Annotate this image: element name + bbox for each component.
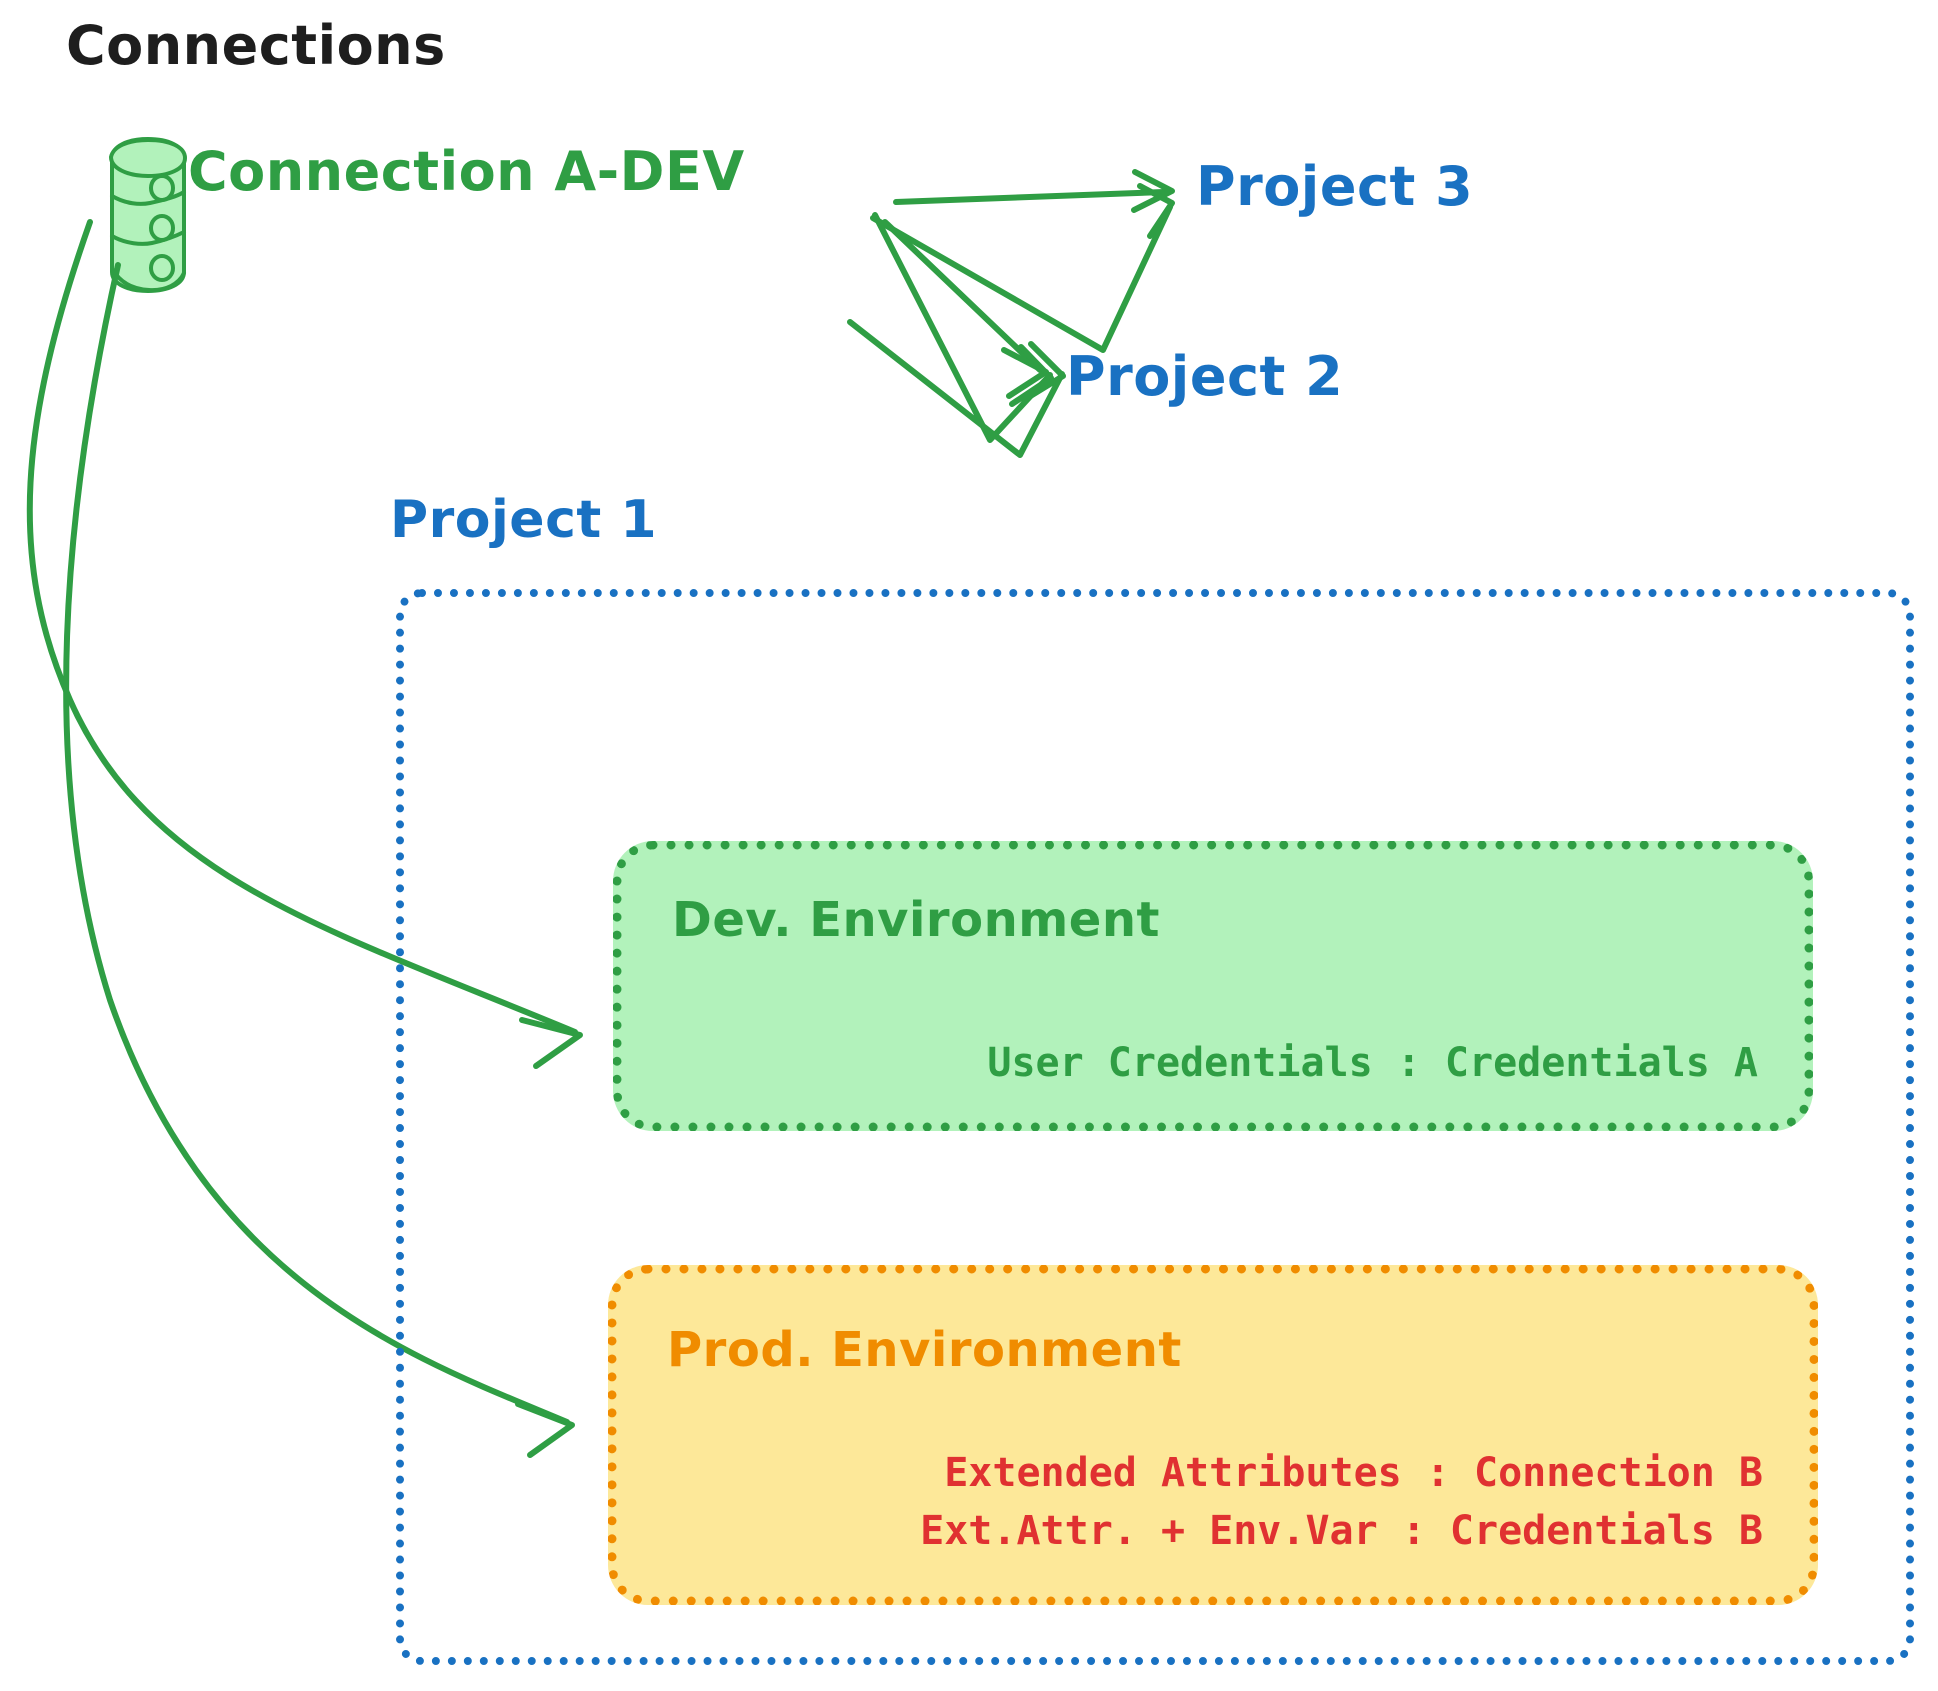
connection-a-dev-label: Connection A-DEV [188, 140, 745, 204]
project-3-label: Project 3 [1196, 155, 1473, 219]
project-1-container: Dev. Environment User Credentials : Cred… [396, 589, 1914, 1665]
dev-environment-box: Dev. Environment User Credentials : Cred… [613, 841, 1813, 1131]
prod-environment-attributes: Extended Attributes : Connection B Ext.A… [920, 1444, 1763, 1560]
project-1-label: Project 1 [390, 490, 657, 551]
prod-attribute-row: Extended Attributes : Connection B [920, 1444, 1763, 1502]
dev-attribute-row: User Credentials : Credentials A [987, 1034, 1758, 1092]
connector-conn-a-dev-to-project-2 [850, 215, 1063, 455]
dev-environment-title: Dev. Environment [672, 892, 1160, 948]
prod-attribute-row: Ext.Attr. + Env.Var : Credentials B [920, 1502, 1763, 1560]
project-2-label: Project 2 [1066, 345, 1343, 409]
prod-environment-box: Prod. Environment Extended Attributes : … [608, 1265, 1818, 1605]
prod-environment-title: Prod. Environment [667, 1322, 1182, 1378]
connector-conn-a-dev-to-project-3 [873, 172, 1172, 350]
diagram-canvas: Connections Connection A-DEV Project 3 P… [0, 0, 1938, 1691]
page-title: Connections [66, 14, 446, 78]
dev-environment-attributes: User Credentials : Credentials A [987, 1034, 1758, 1092]
database-cylinder-icon [111, 139, 185, 291]
